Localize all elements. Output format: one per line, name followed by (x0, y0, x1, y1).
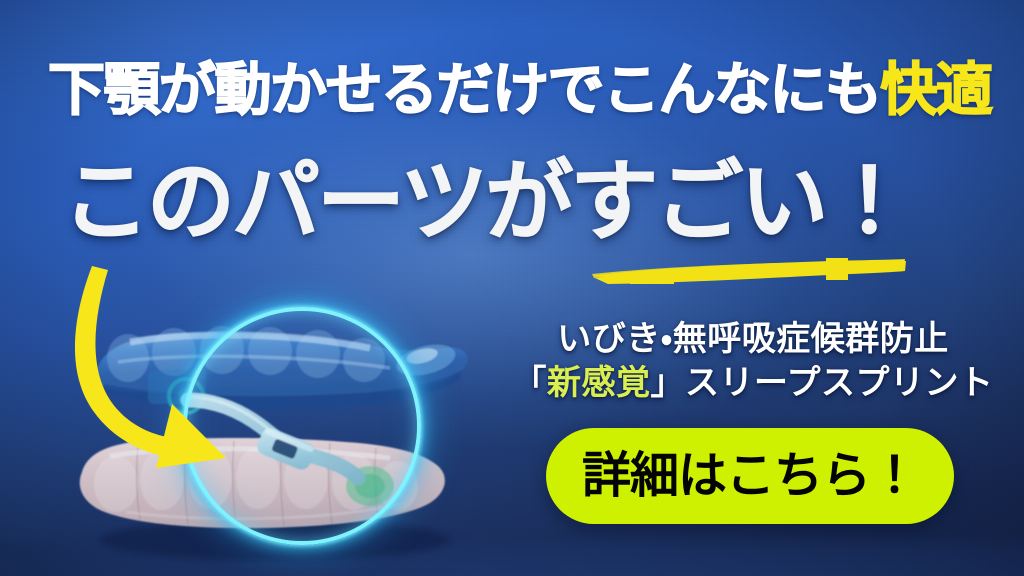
ad-banner: 下顎が動かせるだけでこんなにも快適 このパーツがすごい！ (0, 0, 1024, 576)
subcopy-text: いびき・無呼吸症候群防止 「新感覚」スリープスプリント (498, 318, 1008, 405)
subcopy-line-2: 「新感覚」スリープスプリント (498, 362, 1008, 406)
highlight-circle (183, 307, 421, 545)
headline-primary-main: 下顎が動かせるだけでこんなにも (48, 57, 881, 123)
headline-primary-accent: 快適 (881, 57, 992, 123)
subcopy-line-1: いびき・無呼吸症候群防止 (498, 318, 1008, 362)
subcopy-product-name: スリープスプリント (685, 363, 993, 403)
headline-secondary: このパーツがすごい！ (62, 158, 910, 246)
subcopy-accent: 新感覚 (547, 363, 651, 403)
details-cta-button[interactable]: 詳細はこちら！ (546, 428, 954, 524)
subcopy-open-bracket: 「 (513, 363, 548, 403)
subcopy-close-bracket: 」 (651, 363, 686, 403)
headline-primary: 下顎が動かせるだけでこんなにも快適 (48, 62, 992, 119)
